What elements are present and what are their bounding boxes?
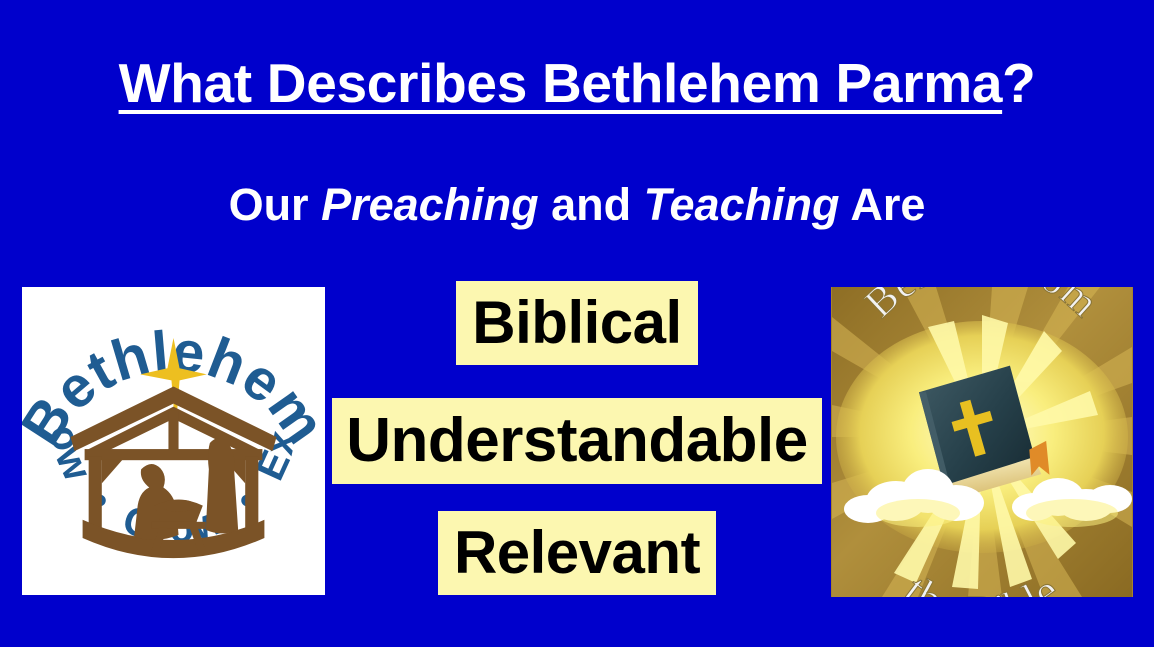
subtitle-part-3: Are <box>840 179 926 230</box>
benefit-from-the-bible-image: Benefit from the Bible <box>831 287 1133 597</box>
nativity-scene-icon <box>70 386 276 558</box>
page-title-question-mark: ? <box>1002 52 1035 114</box>
bullet-highlight-understandable: Understandable <box>332 398 822 484</box>
subtitle-emphasis-teaching: Teaching <box>644 179 840 230</box>
bullet-highlight-biblical: Biblical <box>456 281 697 365</box>
page-subtitle: Our Preaching and Teaching Are <box>0 182 1154 227</box>
page-title-underlined: What Describes Bethlehem Parma <box>119 52 1003 114</box>
subtitle-part-1: Our <box>229 179 322 230</box>
subtitle-part-2: and <box>539 179 644 230</box>
page-title: What Describes Bethlehem Parma? <box>0 56 1154 111</box>
slide-canvas: What Describes Bethlehem Parma? Our Prea… <box>0 0 1154 647</box>
subtitle-emphasis-preaching: Preaching <box>321 179 539 230</box>
bethlehem-logo: Bethlehem Know • Grow • Excel <box>22 287 325 595</box>
bullet-highlight-relevant: Relevant <box>438 511 716 595</box>
